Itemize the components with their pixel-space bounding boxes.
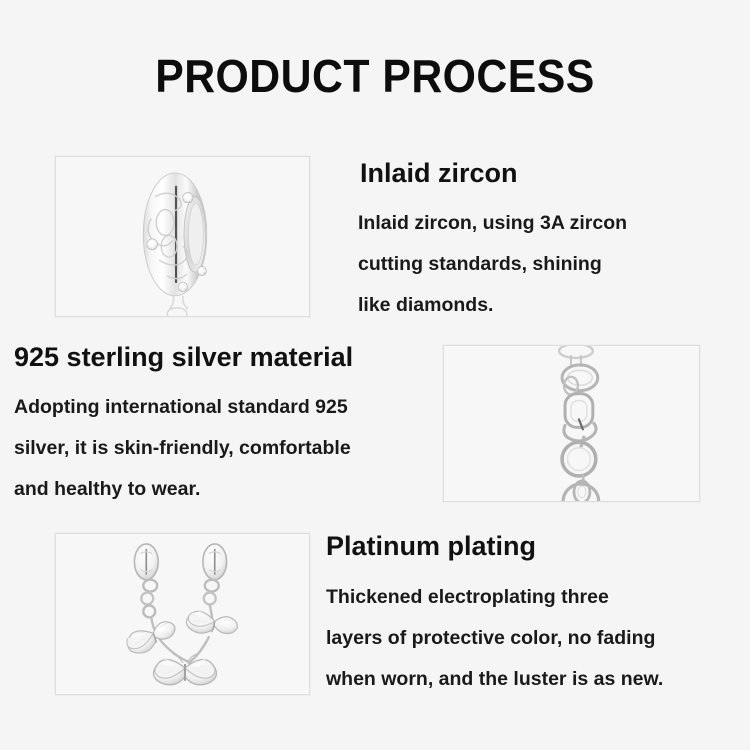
section-heading-inlaid-zircon: Inlaid zircon (360, 158, 518, 189)
product-photo-inlaid-zircon (55, 156, 310, 317)
body-line: Thickened electroplating three (326, 577, 663, 618)
section-body-sterling-silver: Adopting international standard 925 silv… (14, 387, 351, 510)
body-line: and healthy to wear. (14, 469, 351, 510)
butterfly-safety-chain-image (56, 534, 309, 695)
silver-chain-image (444, 346, 699, 502)
product-photo-sterling-silver (443, 345, 700, 502)
product-process-infographic: PRODUCT PROCESS (0, 0, 750, 750)
product-photo-platinum-plating (55, 533, 310, 695)
body-line: cutting standards, shining (358, 244, 627, 285)
body-line: Inlaid zircon, using 3A zircon (358, 203, 627, 244)
section-body-platinum-plating: Thickened electroplating three layers of… (326, 577, 663, 700)
body-line: when worn, and the luster is as new. (326, 659, 663, 700)
silver-charm-bead-image (56, 157, 309, 317)
body-line: Adopting international standard 925 (14, 387, 351, 428)
body-line: layers of protective color, no fading (326, 618, 663, 659)
section-heading-platinum-plating: Platinum plating (326, 531, 536, 562)
page-title: PRODUCT PROCESS (26, 52, 724, 100)
section-heading-sterling-silver: 925 sterling silver material (14, 342, 353, 373)
section-body-inlaid-zircon: Inlaid zircon, using 3A zircon cutting s… (358, 203, 627, 326)
body-line: silver, it is skin-friendly, comfortable (14, 428, 351, 469)
body-line: like diamonds. (358, 285, 627, 326)
